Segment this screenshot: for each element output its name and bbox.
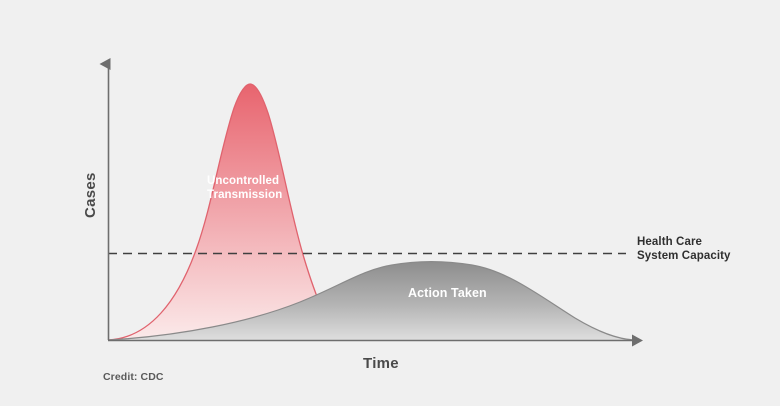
series-label-action-taken: Action Taken xyxy=(408,286,487,301)
capacity-line1: Health Care xyxy=(637,236,702,248)
uncontrolled-line1: Uncontrolled xyxy=(207,175,279,187)
capacity-threshold-label: Health CareSystem Capacity xyxy=(637,236,731,263)
uncontrolled-line2: Transmission xyxy=(207,189,282,201)
flatten-the-curve-chart: Cases Time UncontrolledTransmission Acti… xyxy=(0,0,780,406)
y-axis-label: Cases xyxy=(82,172,100,218)
x-axis-label: Time xyxy=(363,355,399,373)
credit-label: Credit: CDC xyxy=(103,371,164,383)
chart-canvas xyxy=(0,0,780,406)
capacity-line2: System Capacity xyxy=(637,250,731,262)
series-label-uncontrolled-transmission: UncontrolledTransmission xyxy=(207,175,282,202)
